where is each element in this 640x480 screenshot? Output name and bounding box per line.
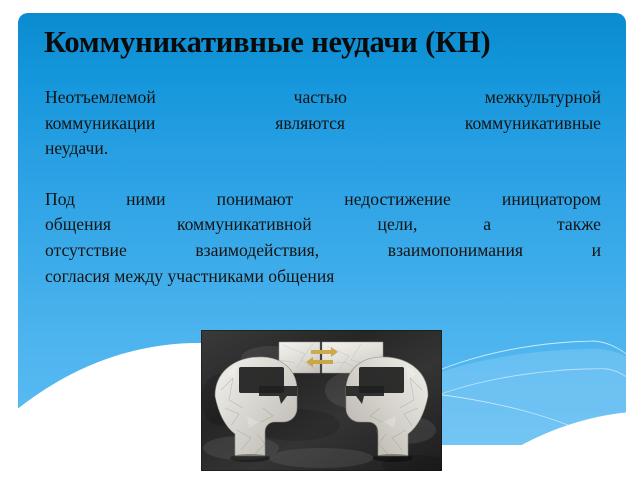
paragraph-2-line-3: отсутствие взаимодействия, взаимопониман… [45, 238, 601, 264]
paragraph-1-line-2: коммуникации являются коммуникативные [45, 111, 601, 137]
paragraph-1: Неотъемлемой частью межкультурной коммун… [45, 85, 601, 162]
paragraph-2-line-4: согласия между участниками общения [45, 264, 601, 290]
slide-canvas: Коммуникативные неудачи (КН) Неотъемлемо… [0, 0, 640, 480]
paragraph-2-line-1: Под ними понимают недостижение инициатор… [45, 187, 601, 213]
paragraph-1-line-1: Неотъемлемой частью межкультурной [45, 85, 601, 111]
crumpled-paper-heads-conversation-image [201, 330, 442, 471]
paragraph-2: Под ними понимают недостижение инициатор… [45, 187, 601, 289]
crumpled-paper-heads-illustration [201, 330, 442, 471]
slide-title: Коммуникативные неудачи (КН) [44, 24, 640, 60]
slide-body-text: Неотъемлемой частью межкультурной коммун… [45, 85, 601, 289]
paragraph-2-line-2: общения коммуникативной цели, а также [45, 212, 601, 238]
paragraph-1-line-3: неудачи. [45, 136, 601, 162]
